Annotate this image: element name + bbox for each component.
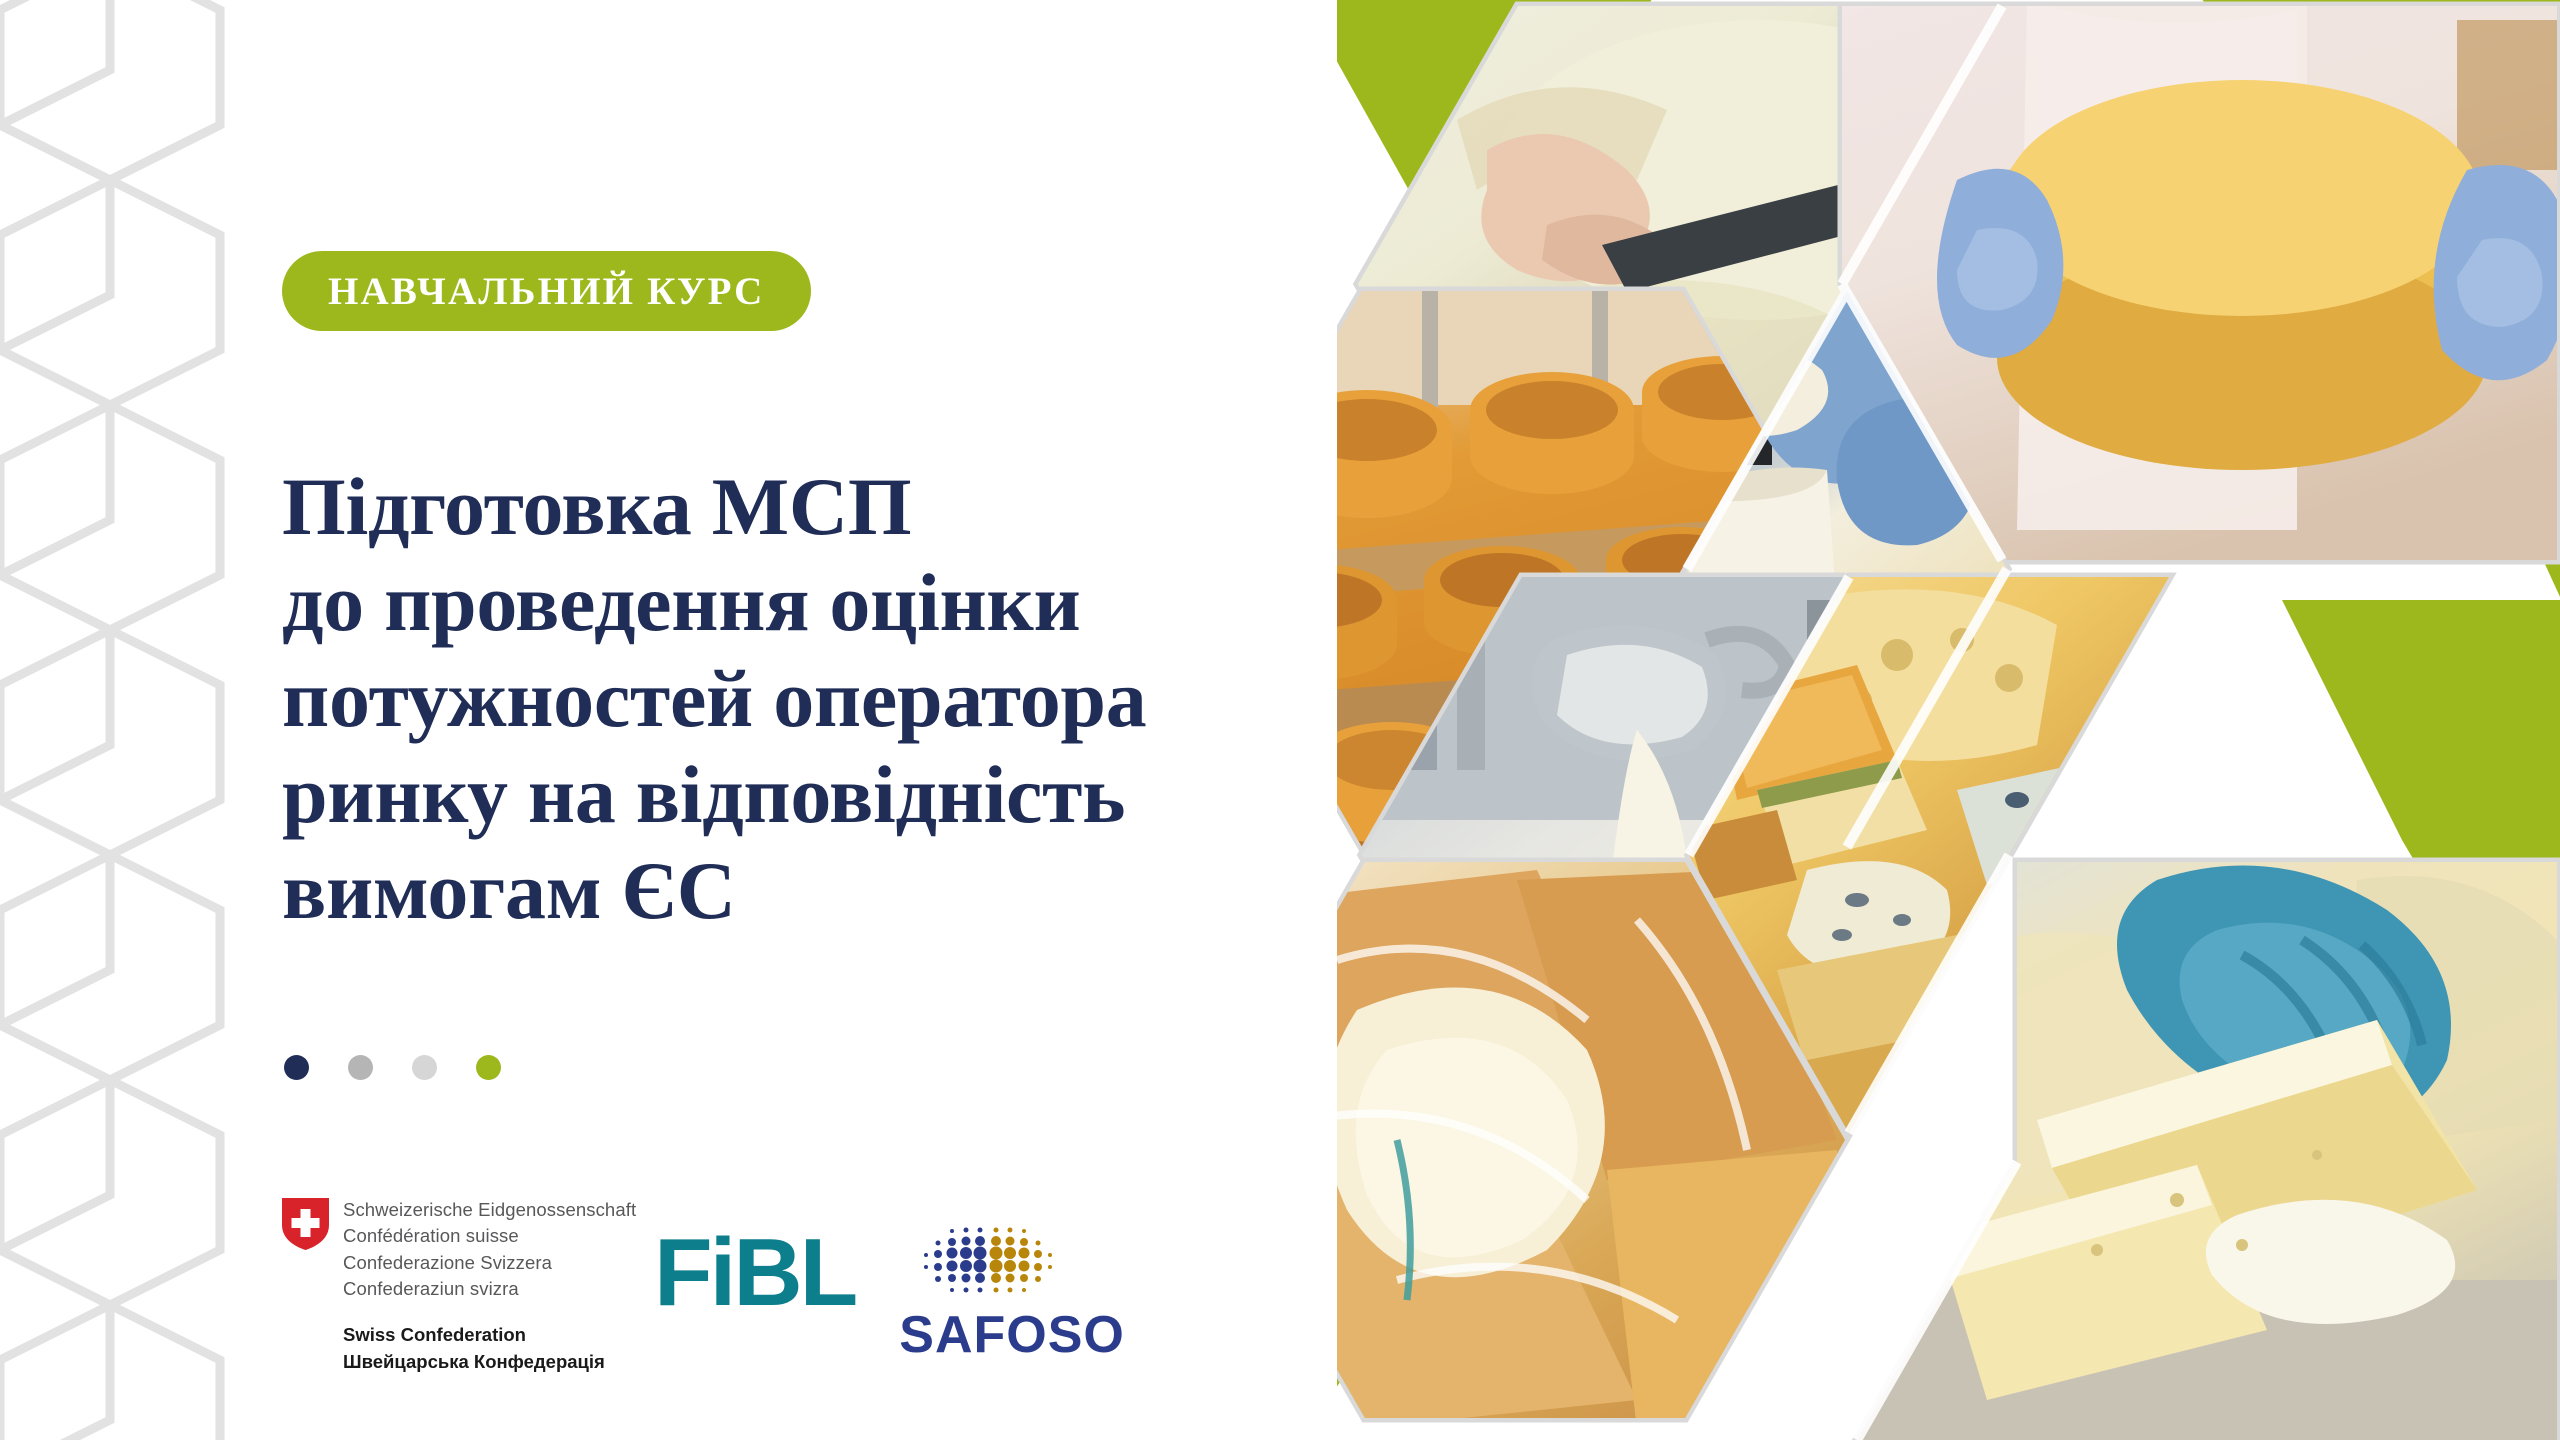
course-type-badge-label: НАВЧАЛЬНИЙ КУРС xyxy=(328,272,765,311)
dot-1 xyxy=(284,1055,309,1080)
swiss-line-de: Schweizerische Eidgenossenschaft xyxy=(343,1197,636,1223)
title-line-3: потужностей оператора xyxy=(282,651,1342,747)
cheese-photo-collage xyxy=(1337,0,2560,1440)
safoso-wordmark: SAFOSO xyxy=(899,1309,1079,1361)
swiss-line-uk: Швейцарська Конфедерація xyxy=(343,1349,636,1376)
title-line-1: Підготовка МСП xyxy=(282,459,1342,555)
content-column: НАВЧАЛЬНИЙ КУРС Підготовка МСП до провед… xyxy=(282,0,1342,1440)
dot-2 xyxy=(348,1055,373,1080)
swiss-confederation-logo: Schweizerische Eidgenossenschaft Confédé… xyxy=(282,1195,612,1376)
safoso-halftone-dots-icon xyxy=(914,1219,1064,1305)
title-line-4: ринку на відповідність xyxy=(282,747,1342,843)
swiss-line-fr: Confédération suisse xyxy=(343,1223,636,1249)
safoso-logo: SAFOSO xyxy=(899,1219,1079,1361)
fibl-logo: FiBL xyxy=(654,1225,855,1321)
title-line-2: до проведення оцінки xyxy=(282,555,1342,651)
dot-3 xyxy=(412,1055,437,1080)
swiss-line-rm: Confederaziun svizra xyxy=(343,1276,636,1302)
title-line-5: вимогам ЄС xyxy=(282,843,1342,939)
swiss-confederation-text: Schweizerische Eidgenossenschaft Confédé… xyxy=(343,1195,636,1376)
course-type-badge: НАВЧАЛЬНИЙ КУРС xyxy=(282,251,811,331)
partner-logos: Schweizerische Eidgenossenschaft Confédé… xyxy=(282,1195,1079,1376)
progress-dots xyxy=(284,1055,501,1080)
swiss-line-en: Swiss Confederation xyxy=(343,1322,636,1349)
page-title: Підготовка МСП до проведення оцінки поту… xyxy=(282,459,1342,939)
swiss-shield-icon xyxy=(282,1198,329,1250)
swiss-bold-block: Swiss Confederation Швейцарська Конфедер… xyxy=(343,1322,636,1376)
dot-4 xyxy=(476,1055,501,1080)
training-course-banner: НАВЧАЛЬНИЙ КУРС Підготовка МСП до провед… xyxy=(0,0,2560,1440)
swiss-line-it: Confederazione Svizzera xyxy=(343,1250,636,1276)
